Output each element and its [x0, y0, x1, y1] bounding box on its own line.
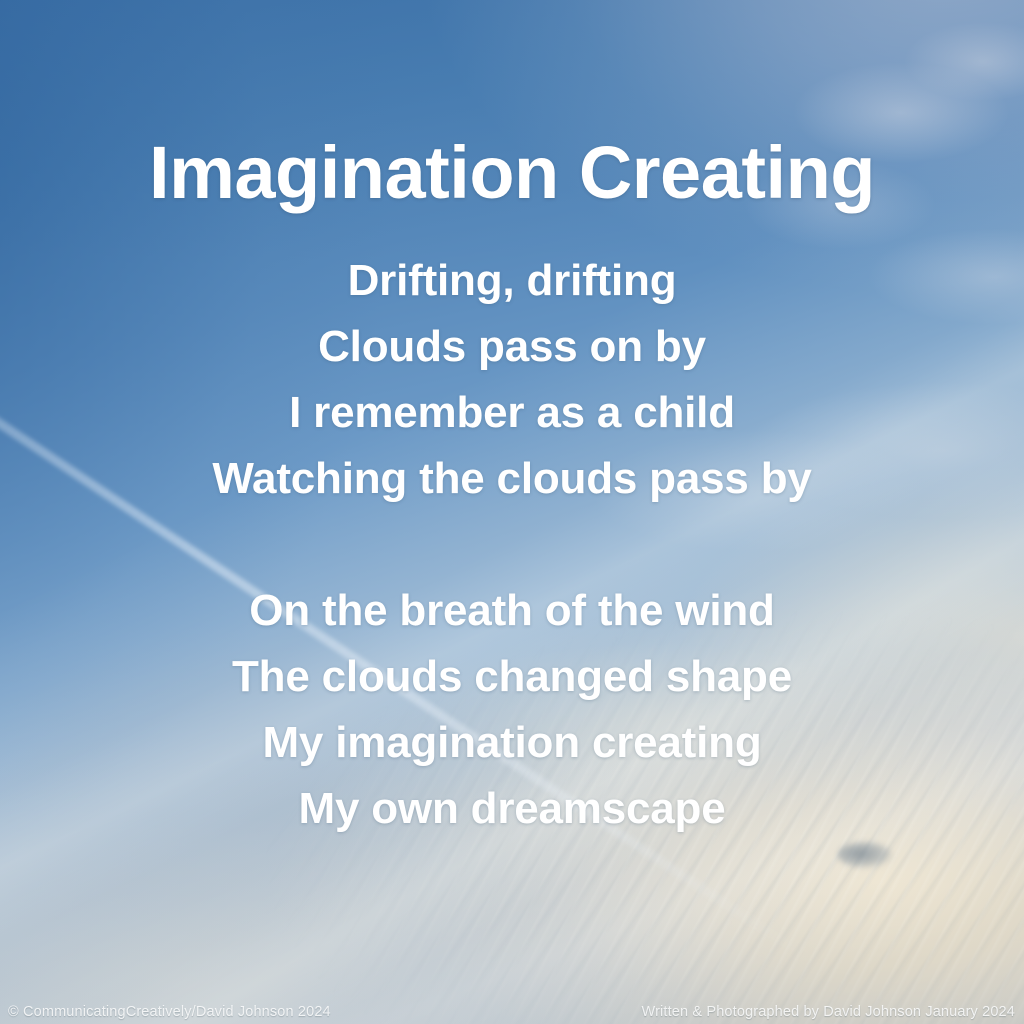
- page-title: Imagination Creating: [0, 136, 1024, 210]
- poem-poster: Imagination Creating Drifting, drifting …: [0, 0, 1024, 1024]
- poem-line: On the breath of the wind: [0, 578, 1024, 644]
- copyright-notice: © CommunicatingCreatively/David Johnson …: [8, 1004, 331, 1020]
- poem-line: My imagination creating: [0, 710, 1024, 776]
- poem-text: Drifting, drifting Clouds pass on by I r…: [0, 248, 1024, 842]
- poem-line: The clouds changed shape: [0, 644, 1024, 710]
- author-credit: Written & Photographed by David Johnson …: [642, 1004, 1016, 1020]
- poem-line: Clouds pass on by: [0, 314, 1024, 380]
- poem-line: My own dreamscape: [0, 776, 1024, 842]
- poem-stanza-1: Drifting, drifting Clouds pass on by I r…: [0, 248, 1024, 512]
- poem-line: Drifting, drifting: [0, 248, 1024, 314]
- poem-line: Watching the clouds pass by: [0, 446, 1024, 512]
- poem-stanza-2: On the breath of the wind The clouds cha…: [0, 578, 1024, 842]
- poster-content: Imagination Creating Drifting, drifting …: [0, 0, 1024, 1024]
- poem-line: I remember as a child: [0, 380, 1024, 446]
